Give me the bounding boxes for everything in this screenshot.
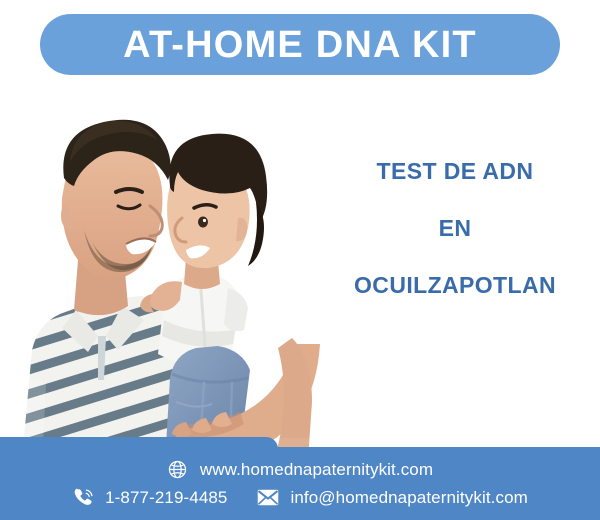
hero-photo [0, 82, 330, 460]
page-title: AT-HOME DNA KIT [123, 26, 477, 64]
footer-website[interactable]: www.homednapaternitykit.com [167, 459, 433, 481]
footer-phone-label: 1-877-219-4485 [105, 488, 227, 508]
headline-line-3: OCUILZAPOTLAN [320, 274, 590, 297]
headline-block: TEST DE ADN EN OCUILZAPOTLAN [320, 160, 590, 297]
footer-email[interactable]: info@homednapaternitykit.com [257, 487, 527, 509]
footer-content: www.homednapaternitykit.com 1-877-219-44… [0, 447, 600, 520]
footer-website-label: www.homednapaternitykit.com [200, 460, 433, 480]
header-banner: AT-HOME DNA KIT [40, 14, 560, 75]
headline-line-2: EN [320, 217, 590, 240]
globe-icon [167, 459, 189, 481]
envelope-icon [257, 487, 279, 509]
footer-email-label: info@homednapaternitykit.com [290, 488, 527, 508]
footer-row-contact: 1-877-219-4485 info@homednapaternitykit.… [72, 487, 528, 509]
headline-line-1: TEST DE ADN [320, 160, 590, 183]
poster-canvas: AT-HOME DNA KIT [0, 0, 600, 520]
hero-photo-image [0, 82, 330, 460]
footer-phone[interactable]: 1-877-219-4485 [72, 487, 227, 509]
phone-icon [72, 487, 94, 509]
footer-row-website: www.homednapaternitykit.com [167, 459, 433, 481]
